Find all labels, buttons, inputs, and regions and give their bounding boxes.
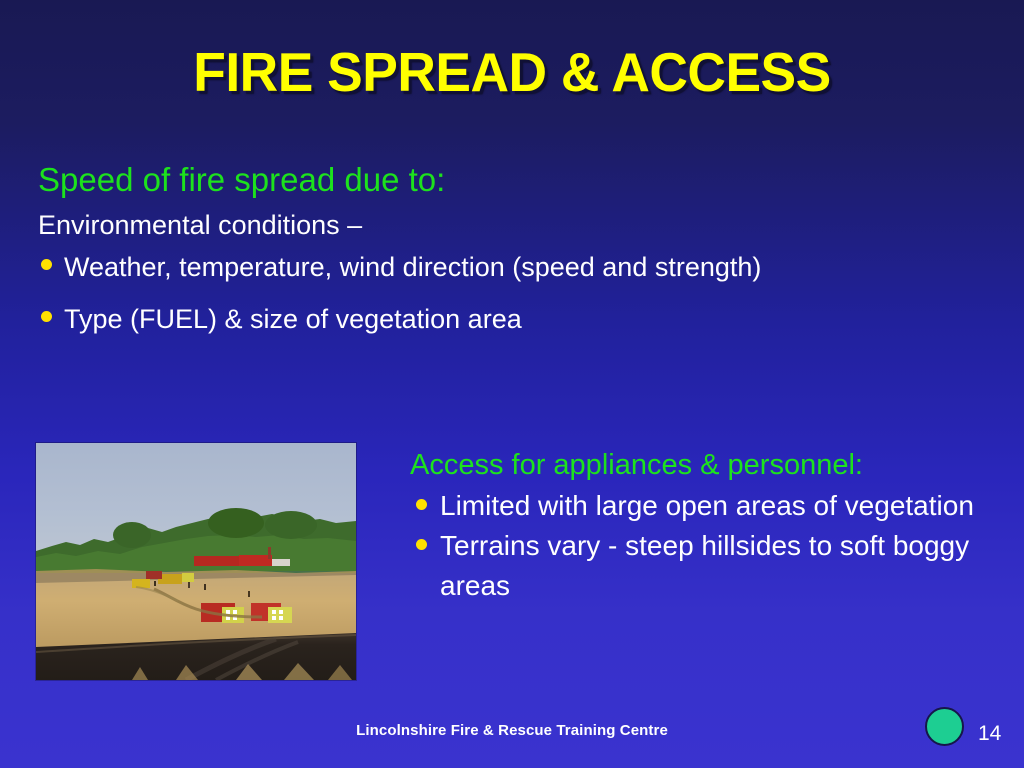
slide-title: FIRE SPREAD & ACCESS (15, 44, 1008, 101)
right-bullet-2: Terrains vary - steep hillsides to soft … (410, 526, 1010, 606)
right-bullet-1-text: Limited with large open areas of vegetat… (440, 490, 974, 521)
right-bullet-2-text: Terrains vary - steep hillsides to soft … (440, 530, 969, 601)
left-subheading: Environmental conditions – (38, 209, 798, 242)
left-content-block: Speed of fire spread due to: Environment… (38, 160, 798, 342)
spacer (38, 291, 798, 302)
red-appliances-far (194, 556, 239, 566)
right-bullet-1: Limited with large open areas of vegetat… (410, 486, 1010, 526)
right-content-block: Access for appliances & personnel: Limit… (410, 448, 1010, 606)
page-marker-dot-icon (925, 707, 964, 746)
presentation-slide: FIRE SPREAD & ACCESS Speed of fire sprea… (0, 0, 1024, 768)
left-bullet-1-text: Weather, temperature, wind direction (sp… (64, 252, 761, 282)
field-fire-photo (36, 443, 356, 680)
right-heading: Access for appliances & personnel: (410, 448, 1010, 483)
photo-graphic (36, 443, 356, 680)
bullet-dot-icon (416, 539, 427, 550)
bullet-dot-icon (416, 499, 427, 510)
footer-organisation: Lincolnshire Fire & Rescue Training Cent… (0, 722, 1024, 739)
bullet-dot-icon (41, 259, 52, 270)
left-bullet-1: Weather, temperature, wind direction (sp… (38, 250, 798, 285)
left-heading: Speed of fire spread due to: (38, 160, 798, 200)
page-number: 14 (978, 722, 1018, 746)
left-bullet-2: Type (FUEL) & size of vegetation area (38, 302, 798, 337)
left-bullet-2-text: Type (FUEL) & size of vegetation area (64, 304, 522, 334)
bullet-dot-icon (41, 311, 52, 322)
